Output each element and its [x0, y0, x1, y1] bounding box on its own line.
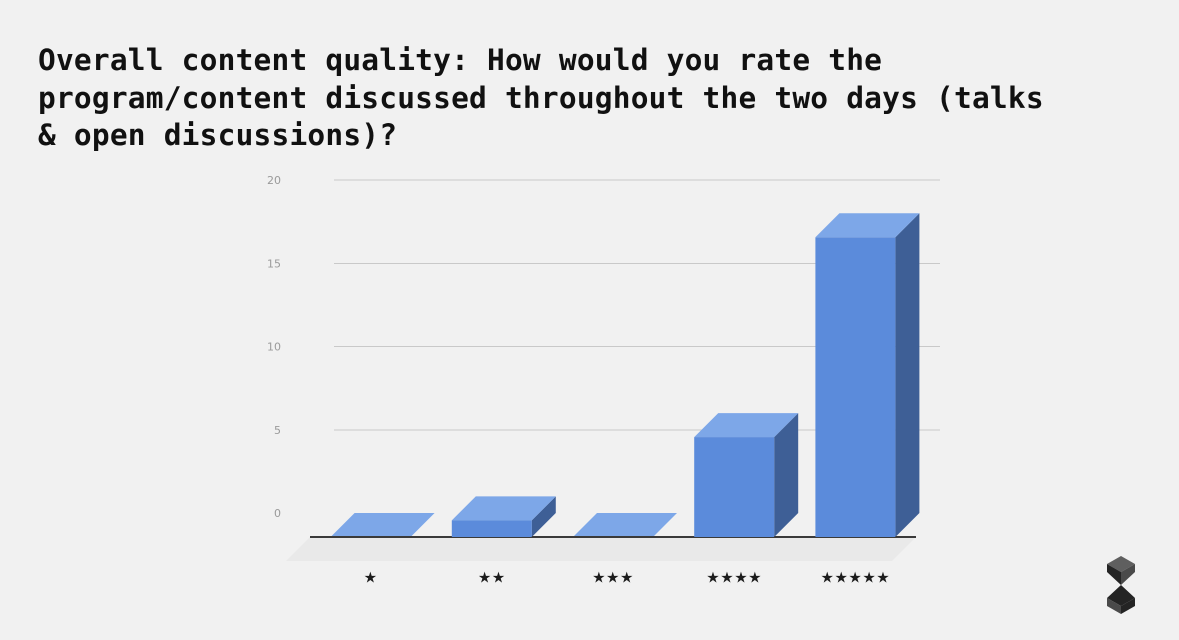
y-axis-tick-label: 15 — [267, 257, 281, 270]
y-axis-tick-label: 10 — [267, 341, 281, 354]
bar-front-2 — [452, 520, 532, 537]
x-axis-tick-label: ★★★ — [592, 569, 634, 587]
x-axis-tick-label: ★★★★ — [706, 569, 762, 587]
y-axis-tick-label: 20 — [267, 174, 281, 187]
bar-top-face — [331, 513, 435, 537]
y-axis-tick-labels: 05101520 — [267, 174, 281, 520]
y-axis-tick-label: 0 — [274, 507, 281, 520]
bar-front-face — [694, 437, 774, 537]
chart-canvas: 05101520 ★★★★★★★★★★★★★★★ — [0, 0, 1179, 640]
x-axis-tick-label: ★★★★★ — [821, 569, 891, 587]
bar-front-face — [815, 237, 895, 537]
x-axis-tick-labels: ★★★★★★★★★★★★★★★ — [364, 569, 891, 587]
bar-1 — [331, 513, 435, 537]
bar-side-face — [895, 213, 919, 537]
chart-bars-front — [452, 237, 896, 537]
bar-top-face — [573, 513, 677, 537]
chart-floor — [286, 537, 916, 561]
bar-chart: 05101520 ★★★★★★★★★★★★★★★ — [0, 0, 1179, 640]
bar-front-4 — [694, 437, 774, 537]
s-mark-logo-svg — [1095, 552, 1147, 618]
x-axis-tick-label: ★ — [364, 569, 378, 587]
s-mark-logo — [1095, 552, 1147, 618]
bar-3 — [573, 513, 677, 537]
y-axis-tick-label: 5 — [274, 424, 281, 437]
bar-front-face — [452, 520, 532, 537]
bar-front-5 — [815, 237, 895, 537]
x-axis-tick-label: ★★ — [478, 569, 506, 587]
